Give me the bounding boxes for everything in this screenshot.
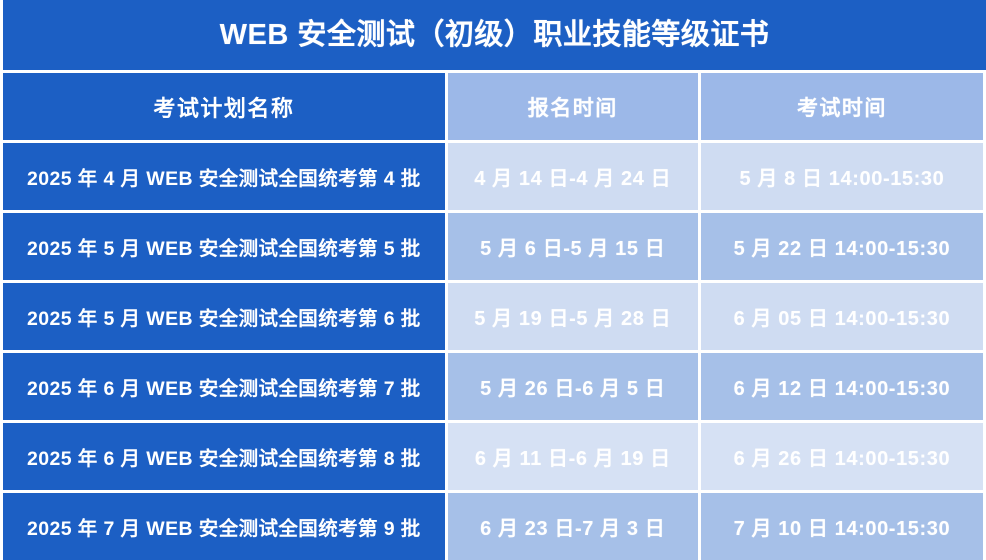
cell-registration-time: 5 月 6 日-5 月 15 日 — [448, 213, 698, 280]
table-row[interactable]: 2025 年 7 月 WEB 安全测试全国统考第 9 批 6 月 23 日-7 … — [0, 493, 986, 560]
cell-exam-time: 6 月 12 日 14:00-15:30 — [701, 353, 983, 420]
page-title: WEB 安全测试（初级）职业技能等级证书 — [220, 21, 770, 50]
cell-exam-time: 6 月 05 日 14:00-15:30 — [701, 283, 983, 350]
cell-plan-name: 2025 年 6 月 WEB 安全测试全国统考第 7 批 — [3, 353, 445, 420]
cell-registration-time: 5 月 19 日-5 月 28 日 — [448, 283, 698, 350]
table-row[interactable]: 2025 年 5 月 WEB 安全测试全国统考第 5 批 5 月 6 日-5 月… — [0, 213, 986, 280]
cell-plan-name: 2025 年 4 月 WEB 安全测试全国统考第 4 批 — [3, 143, 445, 210]
cell-exam-time: 7 月 10 日 14:00-15:30 — [701, 493, 983, 560]
cell-plan-name: 2025 年 6 月 WEB 安全测试全国统考第 8 批 — [3, 423, 445, 490]
cell-plan-name: 2025 年 5 月 WEB 安全测试全国统考第 6 批 — [3, 283, 445, 350]
cell-registration-time: 6 月 23 日-7 月 3 日 — [448, 493, 698, 560]
cell-exam-time: 5 月 8 日 14:00-15:30 — [701, 143, 983, 210]
cell-registration-time: 4 月 14 日-4 月 24 日 — [448, 143, 698, 210]
table-row[interactable]: 2025 年 6 月 WEB 安全测试全国统考第 7 批 5 月 26 日-6 … — [0, 353, 986, 420]
table-header-row: 考试计划名称 报名时间 考试时间 — [0, 73, 986, 140]
table-row[interactable]: 2025 年 5 月 WEB 安全测试全国统考第 6 批 5 月 19 日-5 … — [0, 283, 986, 350]
cell-plan-name: 2025 年 5 月 WEB 安全测试全国统考第 5 批 — [3, 213, 445, 280]
column-header-exam-time: 考试时间 — [701, 73, 983, 140]
column-header-registration-time: 报名时间 — [448, 73, 698, 140]
cell-exam-time: 6 月 26 日 14:00-15:30 — [701, 423, 983, 490]
table-title-bar: WEB 安全测试（初级）职业技能等级证书 — [3, 0, 986, 70]
column-header-plan-name: 考试计划名称 — [3, 73, 445, 140]
table-row[interactable]: 2025 年 4 月 WEB 安全测试全国统考第 4 批 4 月 14 日-4 … — [0, 143, 986, 210]
cell-registration-time: 6 月 11 日-6 月 19 日 — [448, 423, 698, 490]
exam-schedule-table: WEB 安全测试（初级）职业技能等级证书 考试计划名称 报名时间 考试时间 20… — [0, 0, 986, 560]
cell-registration-time: 5 月 26 日-6 月 5 日 — [448, 353, 698, 420]
cell-exam-time: 5 月 22 日 14:00-15:30 — [701, 213, 983, 280]
table-row[interactable]: 2025 年 6 月 WEB 安全测试全国统考第 8 批 6 月 11 日-6 … — [0, 423, 986, 490]
cell-plan-name: 2025 年 7 月 WEB 安全测试全国统考第 9 批 — [3, 493, 445, 560]
